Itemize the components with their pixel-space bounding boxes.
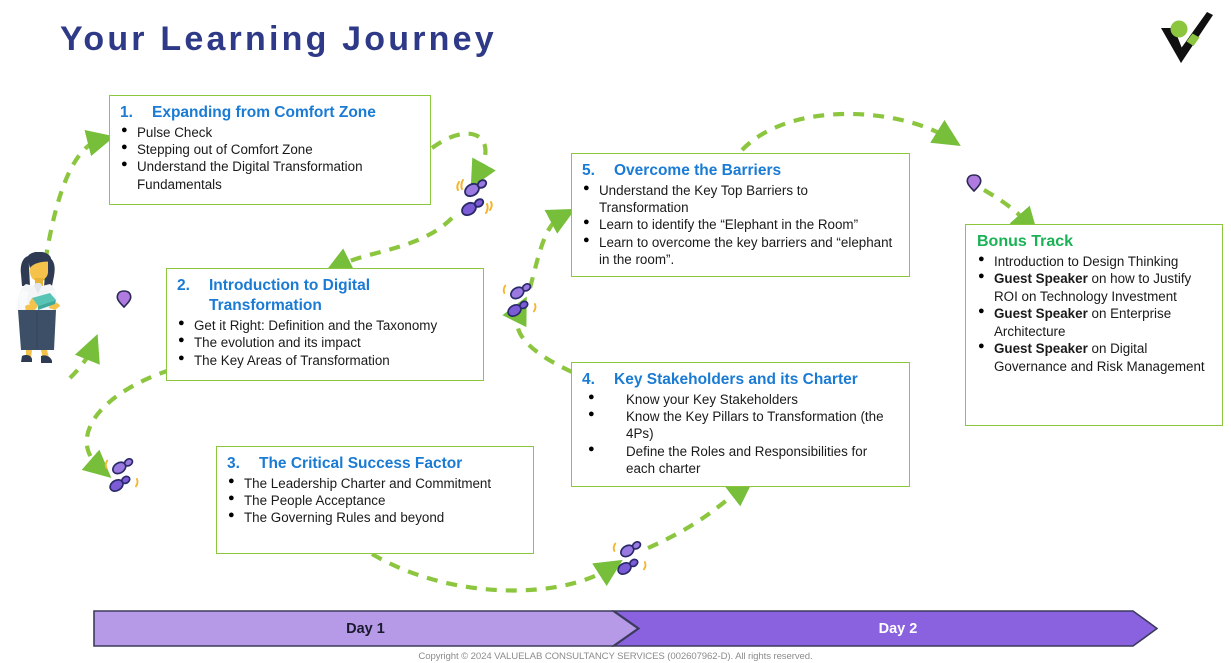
bonus-item-2-lead: Guest Speaker: [994, 306, 1088, 321]
timeline-band: Day 1 Day 2: [93, 610, 1158, 647]
learning-journey-infographic: Your Learning Journey: [0, 0, 1231, 663]
list-item: The evolution and its impact: [177, 334, 473, 351]
step-2-number: 2.: [177, 276, 209, 316]
step-3-heading: 3. The Critical Success Factor: [227, 454, 523, 474]
day1-label: Day 1: [93, 610, 638, 647]
location-pin-2: [965, 172, 983, 197]
list-item: The Leadership Charter and Commitment: [227, 475, 523, 492]
step-2-bullets: Get it Right: Definition and the Taxonom…: [177, 317, 473, 368]
bonus-track-bullets: Introduction to Design Thinking Guest Sp…: [977, 253, 1211, 375]
woman-reading-book-illustration: [8, 252, 74, 364]
list-item: Guest Speaker on how to Justify ROI on T…: [977, 270, 1211, 305]
list-item: Introduction to Design Thinking: [977, 253, 1211, 270]
list-item: The Key Areas of Transformation: [177, 352, 473, 369]
list-item: Know your Key Stakeholders: [582, 391, 899, 408]
step-1-heading: 1. Expanding from Comfort Zone: [120, 103, 420, 123]
list-item: Guest Speaker on Enterprise Architecture: [977, 305, 1211, 340]
list-item: Understand the Digital Transformation Fu…: [120, 158, 420, 192]
page-title: Your Learning Journey: [60, 20, 497, 59]
list-item: Guest Speaker on Digital Governance and …: [977, 340, 1211, 375]
step-2-title: Introduction to Digital Transformation: [209, 276, 473, 316]
footprint-icon-4: [608, 538, 654, 591]
list-item: Learn to identify the “Elephant in the R…: [582, 216, 899, 233]
bonus-track-heading: Bonus Track: [977, 233, 1211, 251]
list-item: Know the Key Pillars to Transformation (…: [582, 408, 899, 442]
step-4-title: Key Stakeholders and its Charter: [614, 370, 899, 390]
location-pin-1: [115, 288, 133, 313]
step-1-bullets: Pulse Check Stepping out of Comfort Zone…: [120, 124, 420, 193]
step-box-1[interactable]: 1. Expanding from Comfort Zone Pulse Che…: [109, 95, 431, 205]
step-5-heading: 5. Overcome the Barriers: [582, 161, 899, 181]
copyright-notice: Copyright © 2024 VALUELAB CONSULTANCY SE…: [0, 651, 1231, 662]
bonus-item-0-text: Introduction to Design Thinking: [994, 254, 1178, 269]
step-box-2[interactable]: 2. Introduction to Digital Transformatio…: [166, 268, 484, 381]
step-1-number: 1.: [120, 103, 152, 123]
logo-svg: [1147, 4, 1219, 66]
list-item: Stepping out of Comfort Zone: [120, 141, 420, 158]
step-5-number: 5.: [582, 161, 614, 181]
step-1-title: Expanding from Comfort Zone: [152, 103, 420, 123]
bonus-item-1-lead: Guest Speaker: [994, 271, 1088, 286]
step-box-4[interactable]: 4. Key Stakeholders and its Charter Know…: [571, 362, 910, 487]
footprint-icon-3: [100, 455, 146, 508]
footprint-icon-2: [498, 280, 544, 333]
step-2-heading: 2. Introduction to Digital Transformatio…: [177, 276, 473, 316]
step-5-title: Overcome the Barriers: [614, 161, 899, 181]
list-item: Learn to overcome the key barriers and “…: [582, 234, 899, 268]
step-4-bullets: Know your Key Stakeholders Know the Key …: [582, 391, 899, 477]
bonus-item-3-lead: Guest Speaker: [994, 341, 1088, 356]
step-3-title: The Critical Success Factor: [259, 454, 523, 474]
step-3-bullets: The Leadership Charter and Commitment Th…: [227, 475, 523, 526]
list-item: Get it Right: Definition and the Taxonom…: [177, 317, 473, 334]
valuelab-v-checkmark-logo: [1147, 4, 1219, 66]
footprint-icon-1: [452, 176, 500, 233]
list-item: Define the Roles and Responsibilities fo…: [582, 443, 899, 477]
list-item: The Governing Rules and beyond: [227, 509, 523, 526]
step-3-number: 3.: [227, 454, 259, 474]
step-box-3[interactable]: 3. The Critical Success Factor The Leade…: [216, 446, 534, 554]
list-item: Pulse Check: [120, 124, 420, 141]
day2-label: Day 2: [638, 610, 1158, 647]
list-item: Understand the Key Top Barriers to Trans…: [582, 182, 899, 216]
bonus-track-box[interactable]: Bonus Track Introduction to Design Think…: [965, 224, 1223, 426]
step-4-number: 4.: [582, 370, 614, 390]
step-4-heading: 4. Key Stakeholders and its Charter: [582, 370, 899, 390]
list-item: The People Acceptance: [227, 492, 523, 509]
step-box-5[interactable]: 5. Overcome the Barriers Understand the …: [571, 153, 910, 277]
step-5-bullets: Understand the Key Top Barriers to Trans…: [582, 182, 899, 268]
